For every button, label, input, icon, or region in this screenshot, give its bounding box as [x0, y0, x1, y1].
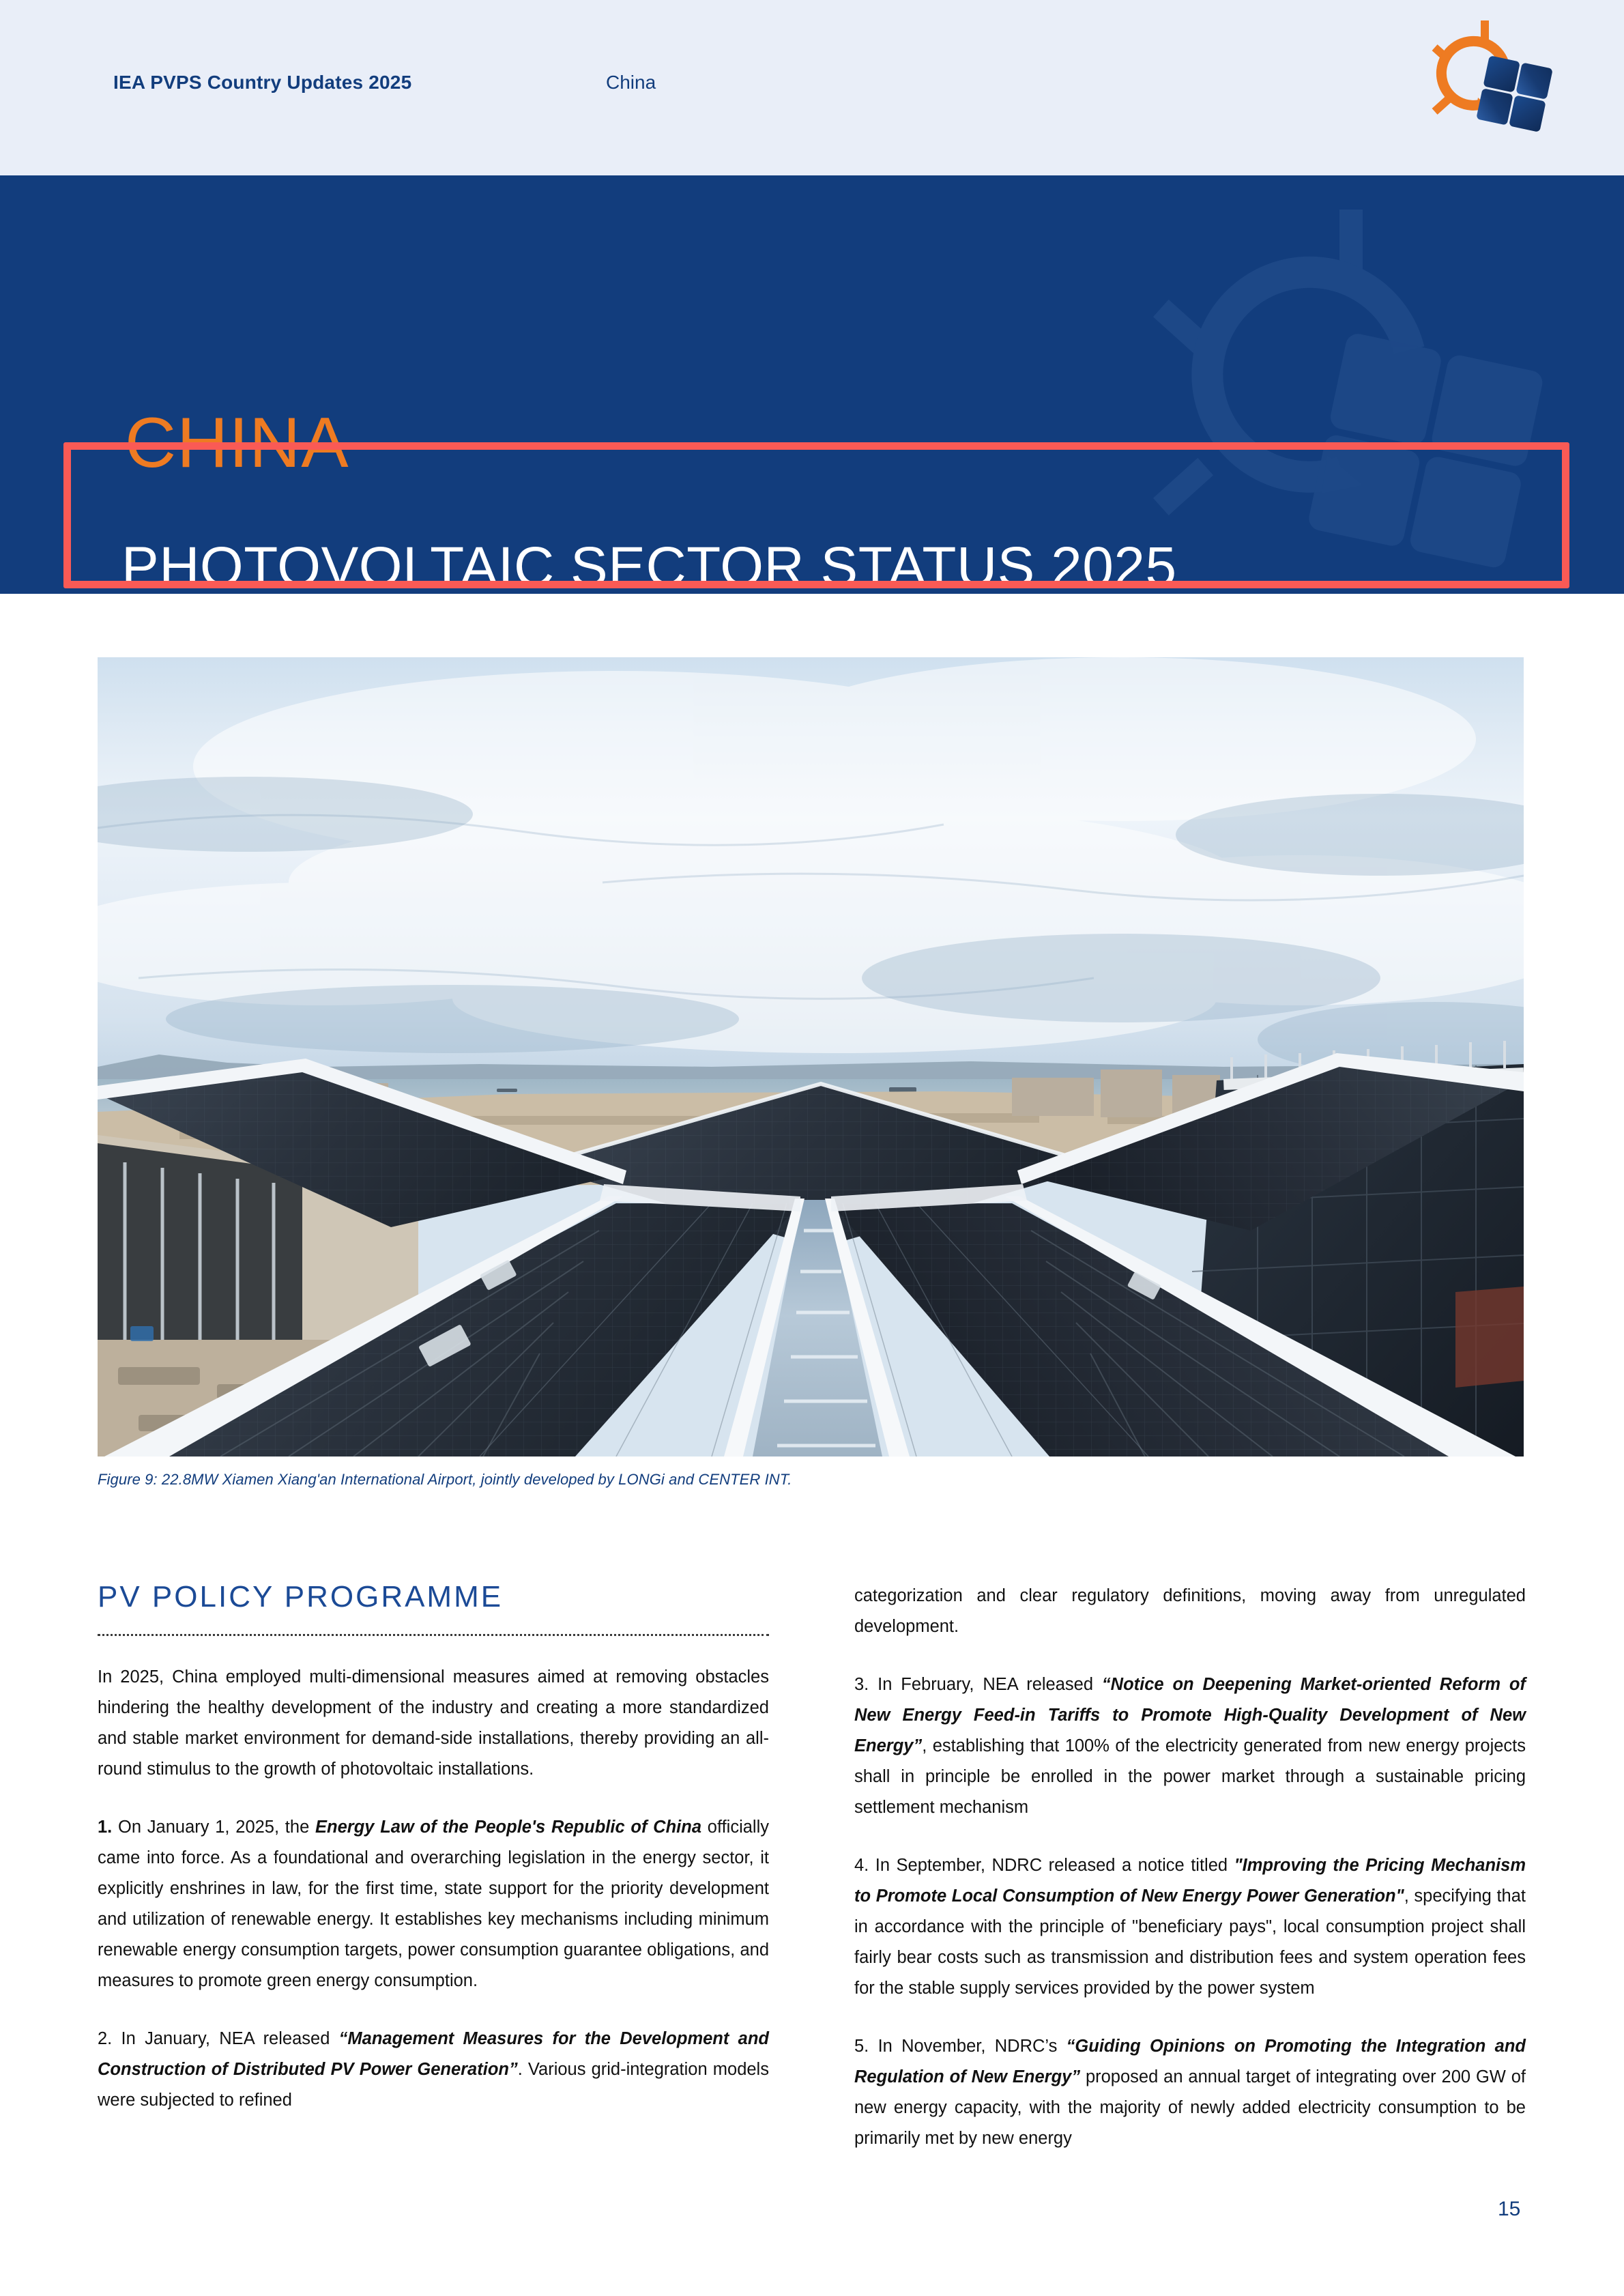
paragraph-2: 2. In January, NEA released “Management … [98, 2024, 769, 2116]
running-header-title: IEA PVPS Country Updates 2025 [113, 72, 411, 94]
paragraph-3-text-b: , establishing that 100% of the electric… [854, 1736, 1526, 1817]
paragraph-2-continued: categorization and clear regulatory defi… [854, 1581, 1526, 1642]
figure-caption: Figure 9: 22.8MW Xiamen Xiang'an Interna… [98, 1471, 792, 1489]
logo-watermark-icon [1122, 196, 1600, 594]
paragraph-1-number: 1. [98, 1818, 112, 1837]
section-heading: PV POLICY PROGRAMME [98, 1581, 769, 1613]
title-band: CHINA PHOTOVOLTAIC SECTOR STATUS 2025 Au… [0, 175, 1624, 594]
document-page: IEA PVPS Country Updates 2025 China [0, 0, 1624, 2296]
country-name-heading: CHINA [125, 407, 349, 478]
section-divider [98, 1634, 769, 1636]
right-column: categorization and clear regulatory defi… [854, 1581, 1526, 2154]
paragraph-intro: In 2025, China employed multi-dimensiona… [98, 1662, 769, 1785]
paragraph-3: 3. In February, NEA released “Notice on … [854, 1669, 1526, 1823]
paragraph-4-text-a: 4. In September, NDRC released a notice … [854, 1856, 1234, 1875]
airport-solar-roof-photo [98, 657, 1524, 1456]
paragraph-5-text-a: 5. In November, NDRC’s [854, 2037, 1067, 2056]
paragraph-1-law-title: Energy Law of the People's Republic of C… [315, 1818, 701, 1837]
running-header: IEA PVPS Country Updates 2025 China [0, 0, 1624, 175]
page-number: 15 [1498, 2198, 1520, 2221]
figure-9 [98, 657, 1524, 1456]
iea-pvps-logo-icon [1412, 12, 1569, 149]
paragraph-1-text-a: On January 1, 2025, the [112, 1818, 315, 1837]
document-title-heading: PHOTOVOLTAIC SECTOR STATUS 2025 [121, 539, 1177, 594]
paragraph-4: 4. In September, NDRC released a notice … [854, 1850, 1526, 2004]
paragraph-5: 5. In November, NDRC’s “Guiding Opinions… [854, 2031, 1526, 2154]
paragraph-3-text-a: 3. In February, NEA released [854, 1675, 1102, 1694]
running-header-country: China [606, 72, 656, 94]
paragraph-1: 1. On January 1, 2025, the Energy Law of… [98, 1812, 769, 1996]
paragraph-1-text-b: officially came into force. As a foundat… [98, 1818, 769, 1990]
paragraph-2-text-a: 2. In January, NEA released [98, 2029, 339, 2048]
left-column: PV POLICY PROGRAMME In 2025, China emplo… [98, 1581, 769, 2116]
